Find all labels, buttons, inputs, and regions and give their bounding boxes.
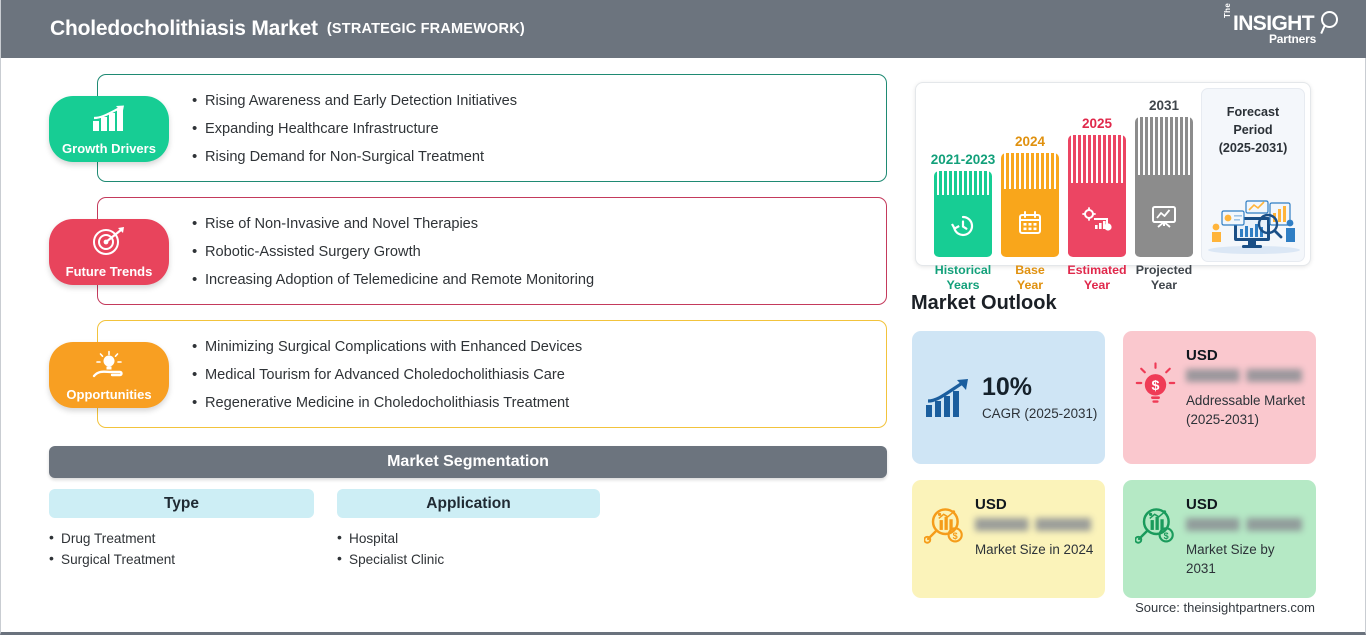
future-trends-panel: Rise of Non-Invasive and Novel Therapies…	[97, 197, 887, 305]
segment-items: Drug Treatment Surgical Treatment	[49, 528, 314, 570]
list-item: Hospital	[337, 528, 600, 549]
list-item: Rising Awareness and Early Detection Ini…	[192, 87, 886, 115]
timeline-bar	[1068, 135, 1126, 257]
timeline-bars: 2021-2023 HistoricalYears 2024	[930, 83, 1202, 267]
timeline-bar	[1001, 153, 1059, 257]
forecast-line-3: (2025-2031)	[1219, 141, 1288, 155]
magnifier-chart-dollar-icon: $	[924, 502, 965, 548]
timeline-bar	[1135, 117, 1193, 257]
infographic-page: Choledocholithiasis Market (STRATEGIC FR…	[0, 0, 1366, 635]
timeline-caption: EstimatedYear	[1067, 263, 1126, 293]
blurred-value	[975, 518, 1091, 531]
card-caption: Addressable Market (2025-2031)	[1186, 391, 1306, 429]
list-item: Expanding Healthcare Infrastructure	[192, 115, 886, 143]
growth-chart-icon	[924, 377, 972, 419]
timeline-caption: HistoricalYears	[935, 263, 991, 293]
segment-header: Type	[49, 489, 314, 518]
svg-text:$: $	[1152, 378, 1160, 394]
badge-label: Opportunities	[66, 387, 151, 402]
source-attribution: Source: theinsightpartners.com	[1135, 600, 1315, 615]
blurred-value	[1186, 518, 1302, 531]
outlook-card-cagr: 10% CAGR (2025-2031)	[912, 331, 1105, 464]
list-item: Medical Tourism for Advanced Choledochol…	[192, 361, 886, 389]
clock-history-icon	[949, 212, 977, 240]
cagr-caption: CAGR (2025-2031)	[982, 406, 1097, 421]
badge-label: Growth Drivers	[62, 141, 156, 156]
page-subtitle: (STRATEGIC FRAMEWORK)	[327, 21, 525, 37]
timeline-year: 2021-2023	[931, 152, 996, 167]
outlook-card-addressable-market: $ USD Addressable Market (2025-2031)	[1123, 331, 1316, 464]
opportunities-panel: Minimizing Surgical Complications with E…	[97, 320, 887, 428]
bar-chart-arrow-up-icon	[89, 104, 129, 133]
future-trends-badge[interactable]: Future Trends	[49, 219, 169, 285]
magnifier-handle-icon	[1320, 25, 1326, 34]
currency-label: USD	[975, 496, 1095, 513]
list-item: Regenerative Medicine in Choledocholithi…	[192, 389, 886, 417]
list-item: Specialist Clinic	[337, 549, 600, 570]
insight-partners-logo: The INSIGHT Partners	[1221, 10, 1343, 50]
segment-items: Hospital Specialist Clinic	[337, 528, 600, 570]
timeline-bar	[934, 171, 992, 257]
market-outlook-title: Market Outlook	[911, 292, 1057, 315]
segmentation-column-type: Type Drug Treatment Surgical Treatment	[49, 489, 314, 570]
currency-label: USD	[1186, 347, 1306, 364]
list-item: Rise of Non-Invasive and Novel Therapies	[192, 210, 886, 238]
list-item: Increasing Adoption of Telemedicine and …	[192, 266, 886, 294]
hand-lightbulb-icon	[89, 350, 129, 380]
magnifier-chart-dollar-icon: $	[1135, 502, 1176, 548]
logo-the-text: The	[1223, 3, 1232, 18]
lightbulb-dollar-icon: $	[1135, 359, 1176, 407]
target-dart-icon	[90, 227, 128, 256]
currency-label: USD	[1186, 496, 1306, 513]
page-title: Choledocholithiasis Market	[50, 17, 318, 41]
segment-header: Application	[337, 489, 600, 518]
list-item: Robotic-Assisted Surgery Growth	[192, 238, 886, 266]
growth-drivers-list: Rising Awareness and Early Detection Ini…	[98, 75, 886, 184]
timeline-caption: BaseYear	[1015, 263, 1045, 293]
forecast-line-1: Forecast	[1227, 105, 1280, 119]
timeline-year: 2031	[1149, 98, 1179, 113]
logo-partners-text: Partners	[1269, 32, 1316, 46]
presentation-chart-icon	[1149, 203, 1179, 229]
outlook-card-market-size-2024: $ USD Market Size in 2024	[912, 480, 1105, 598]
badge-label: Future Trends	[66, 264, 153, 279]
data-analysis-illustration	[1204, 193, 1304, 255]
forecast-period-text: Forecast Period (2025-2031)	[1202, 89, 1304, 157]
list-item: Surgical Treatment	[49, 549, 314, 570]
forecast-timeline-card: 2021-2023 HistoricalYears 2024	[915, 82, 1311, 266]
card-caption: Market Size in 2024	[975, 540, 1095, 559]
svg-text:$: $	[953, 531, 958, 541]
calendar-icon	[1016, 209, 1044, 237]
growth-drivers-panel: Rising Awareness and Early Detection Ini…	[97, 74, 887, 182]
timeline-caption: ProjectedYear	[1136, 263, 1192, 293]
forecast-period-panel: Forecast Period (2025-2031)	[1201, 88, 1305, 262]
timeline-year: 2024	[1015, 134, 1045, 149]
svg-text:$: $	[1164, 531, 1169, 541]
gear-chart-icon	[1082, 207, 1112, 233]
segmentation-column-application: Application Hospital Specialist Clinic	[337, 489, 600, 570]
cagr-value: 10%	[982, 375, 1097, 400]
opportunities-list: Minimizing Surgical Complications with E…	[98, 321, 886, 430]
list-item: Rising Demand for Non-Surgical Treatment	[192, 143, 886, 171]
future-trends-list: Rise of Non-Invasive and Novel Therapies…	[98, 198, 886, 307]
card-caption: Market Size by 2031	[1186, 540, 1306, 578]
growth-drivers-badge[interactable]: Growth Drivers	[49, 96, 169, 162]
blurred-value	[1186, 369, 1302, 382]
page-header: Choledocholithiasis Market (STRATEGIC FR…	[1, 0, 1366, 58]
list-item: Drug Treatment	[49, 528, 314, 549]
list-item: Minimizing Surgical Complications with E…	[192, 333, 886, 361]
forecast-line-2: Period	[1233, 123, 1272, 137]
market-segmentation-title: Market Segmentation	[49, 446, 887, 478]
opportunities-badge[interactable]: Opportunities	[49, 342, 169, 408]
timeline-year: 2025	[1082, 116, 1112, 131]
outlook-card-market-size-2031: $ USD Market Size by 2031	[1123, 480, 1316, 598]
